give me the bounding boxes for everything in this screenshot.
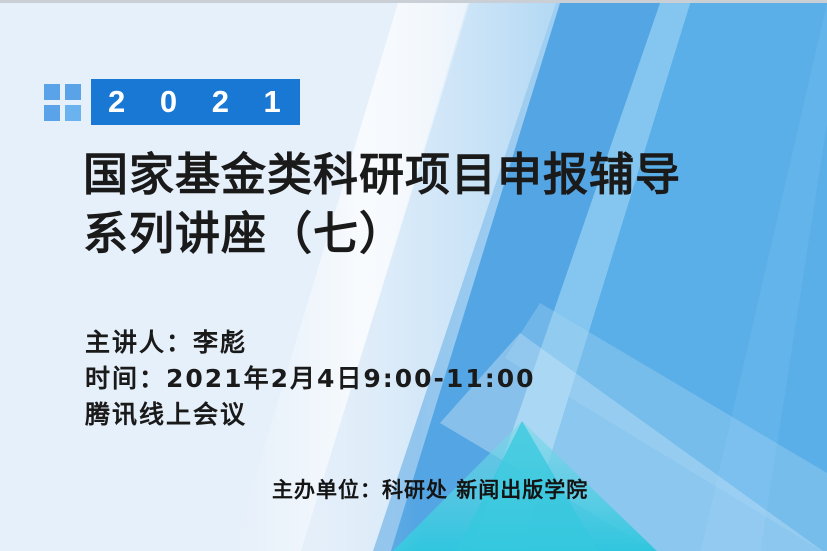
- grid-square-1: [44, 84, 60, 100]
- event-details: 主讲人：李彪 时间：2021年2月4日9:00-11:00 腾讯线上会议: [85, 325, 536, 433]
- title-line-1: 国家基金类科研项目申报辅导: [83, 145, 783, 204]
- year-badge: 2 0 2 1: [91, 79, 300, 125]
- venue-line: 腾讯线上会议: [85, 397, 536, 433]
- year-badge-row: 2 0 2 1: [44, 77, 300, 127]
- poster-canvas: 2 0 2 1 国家基金类科研项目申报辅导 系列讲座（七） 主讲人：李彪 时间：…: [0, 0, 827, 551]
- organizer-line: 主办单位：科研处 新闻出版学院: [272, 474, 588, 504]
- title-line-2: 系列讲座（七）: [83, 204, 783, 263]
- speaker-line: 主讲人：李彪: [85, 325, 536, 361]
- time-line: 时间：2021年2月4日9:00-11:00: [85, 361, 536, 397]
- page-title: 国家基金类科研项目申报辅导 系列讲座（七）: [83, 145, 783, 263]
- grid-square-2: [65, 84, 81, 100]
- grid-square-3: [44, 105, 60, 121]
- grid-four-squares-icon: [44, 84, 81, 121]
- grid-square-4: [65, 105, 81, 121]
